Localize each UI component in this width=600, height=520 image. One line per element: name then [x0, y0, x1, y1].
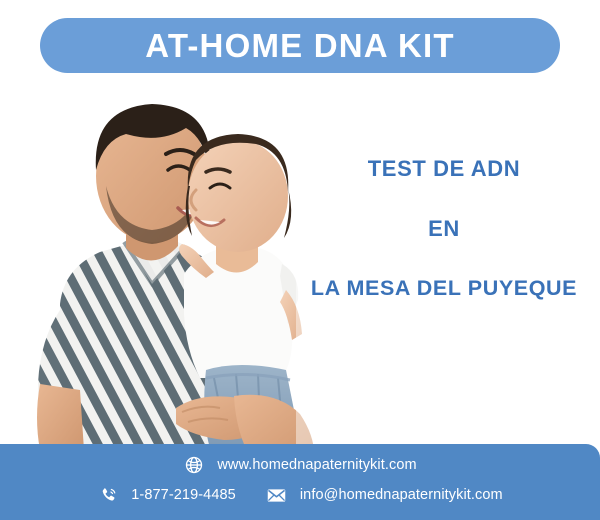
- email-label: info@homednapaternitykit.com: [300, 488, 503, 503]
- globe-icon: [183, 454, 205, 476]
- child-face: [188, 140, 288, 252]
- website-item[interactable]: www.homednapaternitykit.com: [183, 454, 416, 476]
- poster-canvas: AT-HOME DNA KIT: [0, 0, 600, 520]
- header-banner: AT-HOME DNA KIT: [40, 18, 560, 73]
- footer-bar: www.homednapaternitykit.com 1-877-219-44…: [0, 444, 600, 520]
- email-item[interactable]: info@homednapaternitykit.com: [266, 484, 503, 506]
- headline-line-1: TEST DE ADN: [288, 158, 600, 180]
- family-photo: [0, 78, 330, 460]
- footer-row-website: www.homednapaternitykit.com: [0, 444, 600, 478]
- phone-icon: [97, 484, 119, 506]
- headline-line-2: EN: [288, 218, 600, 240]
- phone-label: 1-877-219-4485: [131, 488, 236, 503]
- footer-row-contact: 1-877-219-4485 info@homednapaternitykit.…: [0, 478, 600, 512]
- envelope-icon: [266, 484, 288, 506]
- headline-line-3: LA MESA DEL PUYEQUE: [288, 278, 600, 300]
- headline-block: TEST DE ADN EN LA MESA DEL PUYEQUE: [288, 158, 600, 300]
- phone-item[interactable]: 1-877-219-4485: [97, 484, 236, 506]
- header-title: AT-HOME DNA KIT: [145, 29, 454, 62]
- website-label: www.homednapaternitykit.com: [217, 458, 416, 473]
